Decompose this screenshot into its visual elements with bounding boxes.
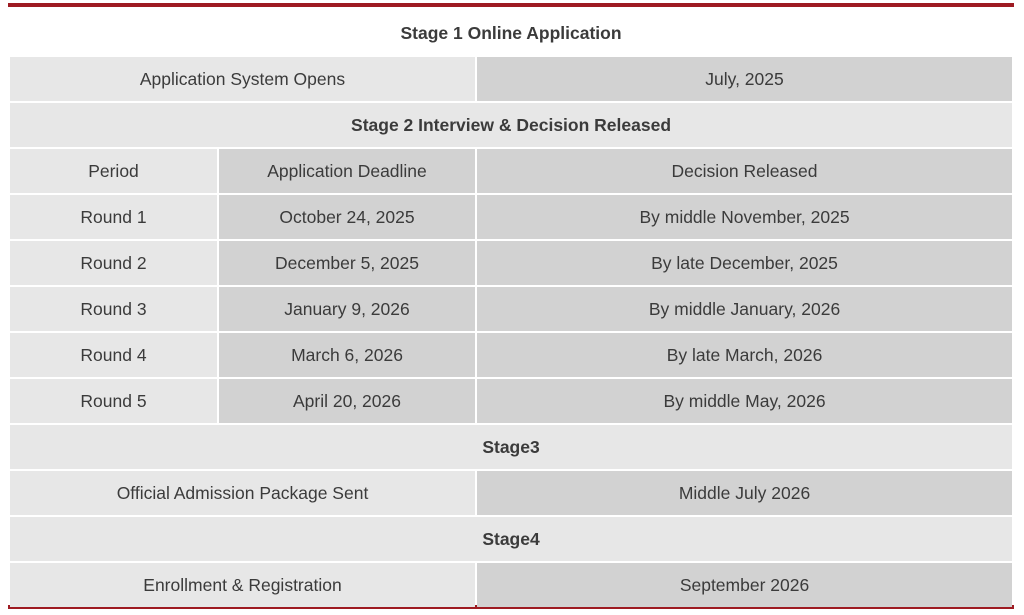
table-row: Round 1 October 24, 2025 By middle Novem… xyxy=(10,195,1012,239)
timeline-sheet: Stage 1 Online Application Application S… xyxy=(0,0,1024,615)
table-row: Round 4 March 6, 2026 By late March, 202… xyxy=(10,333,1012,377)
cell-application-deadline: March 6, 2026 xyxy=(219,333,475,377)
cell-application-deadline: December 5, 2025 xyxy=(219,241,475,285)
column-header-period: Period xyxy=(10,149,217,193)
table-row-stage2-banner: Stage 2 Interview & Decision Released xyxy=(10,103,1012,147)
cell-period: Round 5 xyxy=(10,379,217,423)
admission-timeline-table: Stage 1 Online Application Application S… xyxy=(8,9,1014,609)
cell-decision-released: By middle May, 2026 xyxy=(477,379,1012,423)
cell-period: Round 4 xyxy=(10,333,217,377)
table-row-stage2-headers: Period Application Deadline Decision Rel… xyxy=(10,149,1012,193)
cell-application-deadline: October 24, 2025 xyxy=(219,195,475,239)
table-row-stage4-banner: Stage4 xyxy=(10,517,1012,561)
top-rule-divider xyxy=(8,3,1014,7)
stage4-title: Stage4 xyxy=(10,517,1012,561)
cell-application-deadline: January 9, 2026 xyxy=(219,287,475,331)
stage1-label: Application System Opens xyxy=(10,57,475,101)
table-row: Round 2 December 5, 2025 By late Decembe… xyxy=(10,241,1012,285)
table-row-stage3-banner: Stage3 xyxy=(10,425,1012,469)
stage3-value: Middle July 2026 xyxy=(477,471,1012,515)
stage3-label: Official Admission Package Sent xyxy=(10,471,475,515)
column-header-application-deadline: Application Deadline xyxy=(219,149,475,193)
stage1-value: July, 2025 xyxy=(477,57,1012,101)
table-row-stage3: Official Admission Package Sent Middle J… xyxy=(10,471,1012,515)
cell-decision-released: By middle January, 2026 xyxy=(477,287,1012,331)
stage1-title: Stage 1 Online Application xyxy=(10,11,1012,55)
stage2-title: Stage 2 Interview & Decision Released xyxy=(10,103,1012,147)
cell-decision-released: By late March, 2026 xyxy=(477,333,1012,377)
stage4-label: Enrollment & Registration xyxy=(10,563,475,607)
stage4-value: September 2026 xyxy=(477,563,1012,607)
cell-period: Round 2 xyxy=(10,241,217,285)
table-row-stage1-banner: Stage 1 Online Application xyxy=(10,11,1012,55)
stage3-title: Stage3 xyxy=(10,425,1012,469)
table-row-stage1: Application System Opens July, 2025 xyxy=(10,57,1012,101)
table-row: Round 5 April 20, 2026 By middle May, 20… xyxy=(10,379,1012,423)
column-header-decision-released: Decision Released xyxy=(477,149,1012,193)
cell-period: Round 3 xyxy=(10,287,217,331)
cell-period: Round 1 xyxy=(10,195,217,239)
cell-application-deadline: April 20, 2026 xyxy=(219,379,475,423)
cell-decision-released: By late December, 2025 xyxy=(477,241,1012,285)
cell-decision-released: By middle November, 2025 xyxy=(477,195,1012,239)
table-row-stage4: Enrollment & Registration September 2026 xyxy=(10,563,1012,607)
table-row: Round 3 January 9, 2026 By middle Januar… xyxy=(10,287,1012,331)
